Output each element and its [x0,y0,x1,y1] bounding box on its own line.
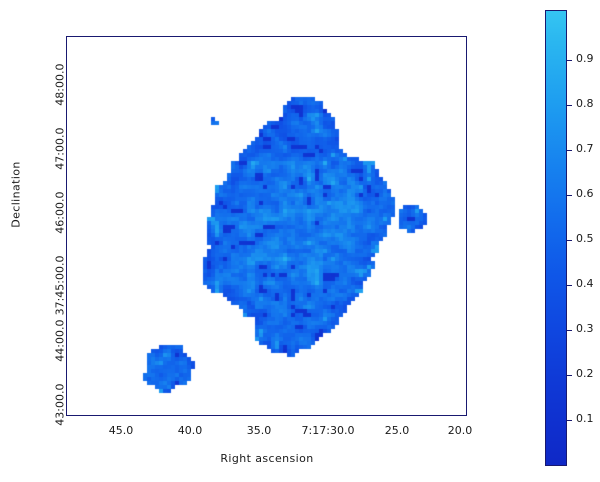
x-tick-label: 45.0 [81,424,161,437]
colorbar-tick-mark [567,60,572,61]
y-axis-label: Declination [10,135,23,255]
colorbar-tick-mark [567,285,572,286]
y-tick-label: 37:45:00.0 [54,256,67,316]
colorbar-tick-mark [567,105,572,106]
colorbar-tick-label: 0.8 [576,97,594,110]
sky-map-plot-area[interactable] [66,36,467,416]
colorbar-tick-mark [567,330,572,331]
y-tick-label: 46:00.0 [54,192,67,234]
y-tick-label: 44:00.0 [54,320,67,362]
x-tick-label: 20.0 [420,424,500,437]
colorbar-tick-label: 0.9 [576,52,594,65]
x-axis-label: Right ascension [66,452,468,465]
colorbar-tick-label: 0.5 [576,232,594,245]
x-tick-label: 40.0 [150,424,230,437]
colorbar-tick-label: 0.6 [576,187,594,200]
colorbar[interactable] [545,10,567,466]
colorbar-tick-label: 0.2 [576,367,594,380]
y-tick-label: 47:00.0 [54,128,67,170]
colorbar-tick-mark [567,240,572,241]
colorbar-tick-label: 0.4 [576,277,594,290]
colorbar-tick-label: 0.3 [576,322,594,335]
emission-heatmap-canvas [67,37,467,416]
colorbar-tick-mark [567,420,572,421]
colorbar-tick-mark [567,150,572,151]
colorbar-tick-mark [567,195,572,196]
colorbar-tick-label: 0.7 [576,142,594,155]
y-tick-label: 43:00.0 [54,384,67,426]
figure-root: Declination 48:00.0 47:00.0 46:00.0 37:4… [0,0,600,482]
colorbar-tick-mark [567,375,572,376]
colorbar-tick-label: 0.1 [576,412,594,425]
y-tick-label: 48:00.0 [54,64,67,106]
